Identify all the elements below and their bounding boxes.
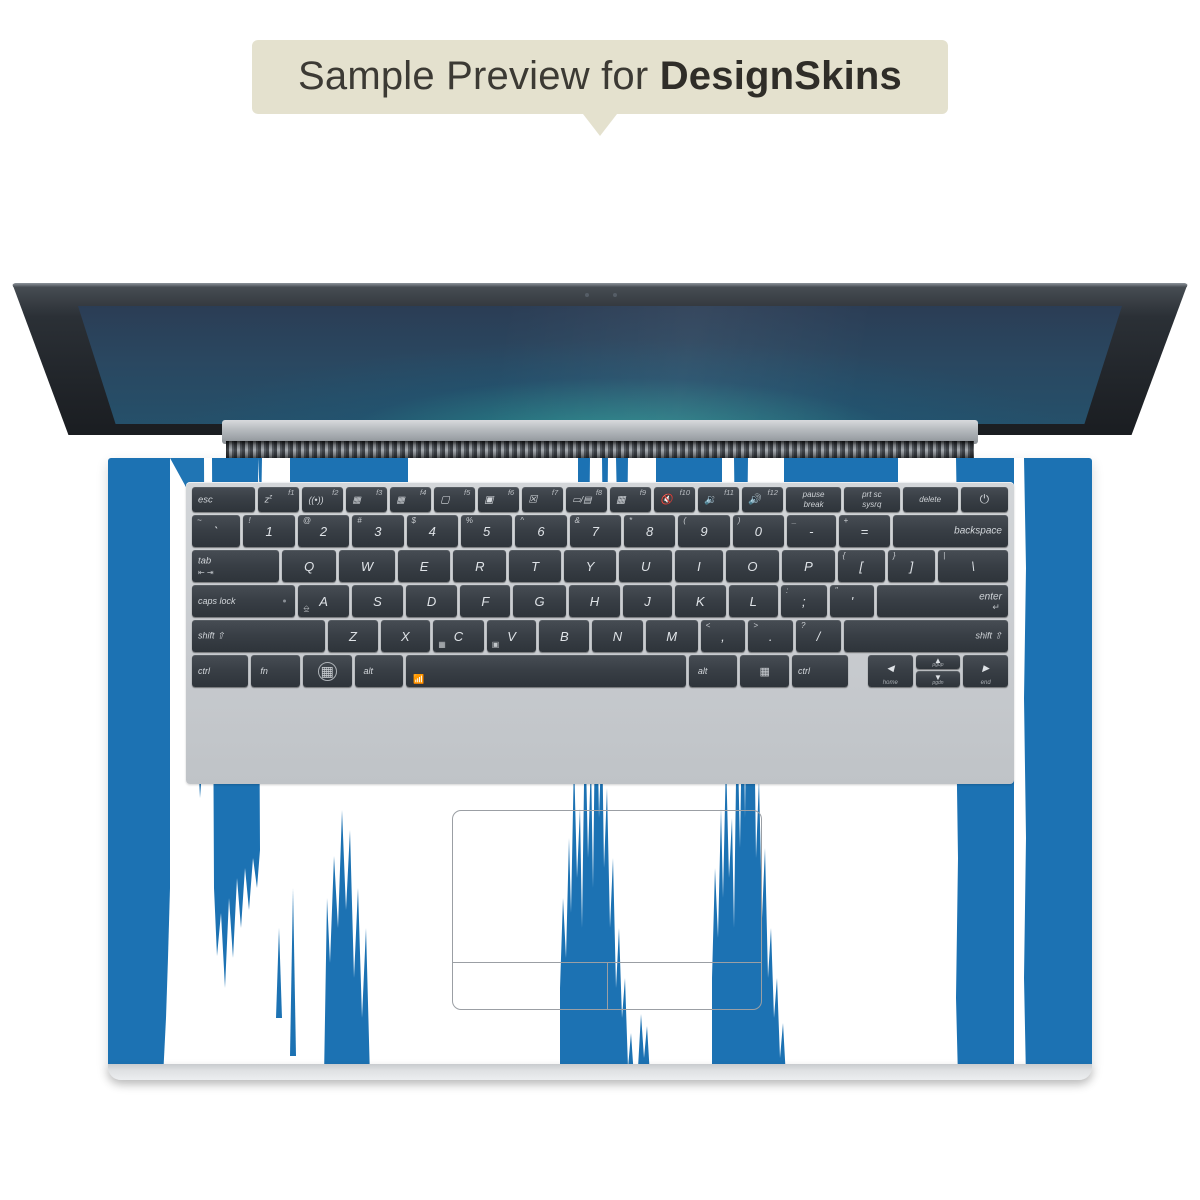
key-tab-label: tab: [198, 555, 211, 566]
key-5-label: 5: [483, 524, 490, 539]
screen-glare: [78, 306, 1122, 424]
brightness-up-icon: ▣: [484, 494, 493, 505]
key-f12-volume-up[interactable]: 🔊f12: [742, 487, 783, 512]
key-0-label: 0: [755, 524, 762, 539]
wireless-icon: ((•)): [308, 495, 323, 505]
laptop-product-image: esc zzf1 ((•))f2 ▦f3 ▦f4 ▢f5 ▣f6 ☒f7 ▭/▤…: [0, 278, 1200, 1108]
key-tab[interactable]: tab⇤ ⇥: [192, 550, 279, 582]
laptop-lid: [0, 278, 1200, 438]
key-t[interactable]: T: [509, 550, 561, 582]
key-u[interactable]: U: [619, 550, 672, 582]
key-backslash-label: \: [971, 559, 975, 574]
key-fn-label: fn: [260, 666, 268, 676]
key-f6-brightness-up[interactable]: ▣f6: [478, 487, 519, 512]
key-m-label: M: [666, 629, 677, 644]
enter-arrow-icon: ↵: [992, 602, 1000, 613]
key-g[interactable]: G: [513, 585, 565, 617]
volume-up-icon: 🔊: [748, 494, 760, 505]
key-delete-label: delete: [919, 495, 941, 505]
key-enter-label: enter: [979, 591, 1002, 602]
key-y-label: Y: [586, 559, 595, 574]
key-fn[interactable]: fn: [251, 655, 300, 687]
key-4-shift: $: [412, 516, 416, 525]
key-semicolon[interactable]: :;: [781, 585, 827, 617]
key-1[interactable]: !1: [243, 515, 294, 547]
key-f9-fnlabel: f9: [640, 488, 646, 497]
key-6[interactable]: ^6: [515, 515, 566, 547]
key-8[interactable]: *8: [624, 515, 675, 547]
key-print-screen[interactable]: prt scsysrq: [844, 487, 899, 512]
key-print-screen-label: prt scsysrq: [862, 490, 882, 510]
lid-top-highlight: [12, 283, 1188, 287]
key-quote-label: ': [851, 594, 853, 609]
key-ctrl-left-label: ctrl: [198, 666, 210, 676]
key-minus-shift: _: [792, 516, 796, 525]
key-a-label: A: [319, 594, 328, 609]
key-n-label: N: [613, 629, 622, 644]
key-f[interactable]: F: [460, 585, 510, 617]
key-equals-shift: +: [844, 516, 849, 525]
key-y[interactable]: Y: [564, 550, 616, 582]
key-i-label: I: [697, 559, 701, 574]
key-pause-break[interactable]: pausebreak: [786, 487, 841, 512]
touchpad-icon: ▦: [616, 494, 625, 505]
key-9[interactable]: (9: [678, 515, 729, 547]
key-bracket-left-shift: {: [843, 551, 846, 560]
pause-line: pause: [803, 490, 825, 499]
key-power[interactable]: ⏻: [961, 487, 1008, 512]
key-semicolon-shift: :: [786, 586, 788, 595]
key-ctrl-right[interactable]: ctrl: [792, 655, 848, 687]
calculator-icon: ▦: [438, 640, 446, 649]
key-arrow-up[interactable]: ▲pgup: [916, 655, 961, 669]
key-comma-shift: <: [706, 621, 711, 630]
key-bracket-right-label: ]: [910, 559, 914, 574]
key-q-label: Q: [304, 559, 314, 574]
key-7-shift: &: [575, 516, 580, 525]
key-6-shift: ^: [520, 516, 524, 525]
preview-canvas: Sample Preview for DesignSkins: [0, 0, 1200, 1200]
key-backslash[interactable]: |\: [938, 550, 1008, 582]
key-backslash-shift: |: [943, 551, 945, 560]
laptop-front-edge: [108, 1064, 1092, 1080]
key-shift-left-label: shift ⇧: [198, 631, 225, 642]
sysrq-line: sysrq: [862, 500, 881, 509]
laptop-base: esc zzf1 ((•))f2 ▦f3 ▦f4 ▢f5 ▣f6 ☒f7 ▭/▤…: [108, 458, 1092, 1078]
key-f-label: F: [481, 594, 489, 609]
key-s-label: S: [373, 594, 382, 609]
key-backtick-shift: ~: [197, 516, 202, 525]
key-3-shift: #: [357, 516, 361, 525]
key-f7-fnlabel: f7: [552, 488, 558, 497]
key-2-shift: @: [303, 516, 311, 525]
key-arrow-right-alt-label: end: [963, 680, 1008, 686]
key-7-label: 7: [592, 524, 599, 539]
key-arrow-left[interactable]: ◀home: [868, 655, 913, 687]
key-backtick[interactable]: ~`: [192, 515, 240, 547]
key-slash-shift: ?: [801, 621, 805, 630]
key-o[interactable]: O: [726, 550, 780, 582]
key-f5-fnlabel: f5: [464, 488, 470, 497]
key-c-label: C: [454, 629, 463, 644]
key-alt-right[interactable]: alt: [689, 655, 738, 687]
key-f8-fnlabel: f8: [596, 488, 602, 497]
keyboard-deck: esc zzf1 ((•))f2 ▦f3 ▦f4 ▢f5 ▣f6 ☒f7 ▭/▤…: [186, 482, 1014, 784]
key-b[interactable]: B: [539, 620, 589, 652]
key-f6-fnlabel: f6: [508, 488, 514, 497]
caps-lock-led: [283, 600, 286, 603]
key-f1-fnlabel: f1: [288, 488, 294, 497]
display-switch-icon: ▭/▤: [572, 494, 592, 505]
windows-icon: ▦: [318, 662, 337, 681]
banner-pointer: [583, 114, 617, 136]
key-caps-lock-label: caps lock: [198, 596, 236, 606]
key-arrow-left-alt-label: home: [868, 680, 913, 686]
key-d[interactable]: D: [406, 585, 458, 617]
key-f11-volume-down[interactable]: 🔉f11: [698, 487, 739, 512]
key-ctrl-right-label: ctrl: [798, 666, 810, 676]
key-enter[interactable]: enter↵: [877, 585, 1008, 617]
keyboard-row-function: esc zzf1 ((•))f2 ▦f3 ▦f4 ▢f5 ▣f6 ☒f7 ▭/▤…: [192, 487, 1008, 512]
keyboard-row-space: ctrl fn ▦ alt 📶 alt ▦ ctrl ◀home ▲pgup ▼…: [192, 655, 1008, 687]
volume-down-icon: 🔉: [704, 494, 716, 505]
key-caps-lock[interactable]: caps lock: [192, 585, 295, 617]
key-delete[interactable]: delete: [903, 487, 958, 512]
key-arrow-down-alt-label: pgdn: [916, 680, 961, 686]
key-a[interactable]: A⎒: [298, 585, 349, 617]
banner-text-plain: Sample Preview for: [298, 54, 660, 98]
key-f3-kbd-backlight-down[interactable]: ▦f3: [346, 487, 387, 512]
key-f2-fnlabel: f2: [332, 488, 338, 497]
key-0-shift: ): [738, 516, 741, 525]
key-f12-fnlabel: f12: [767, 488, 777, 497]
banner-text-bold: DesignSkins: [660, 54, 902, 98]
key-k-label: K: [696, 594, 705, 609]
key-4[interactable]: $4: [407, 515, 458, 547]
key-space[interactable]: 📶: [406, 655, 686, 687]
webcam-lens-icon: [613, 293, 617, 297]
key-bracket-left[interactable]: {[: [838, 550, 885, 582]
key-arrow-right[interactable]: ▶end: [963, 655, 1008, 687]
key-o-label: O: [747, 559, 757, 574]
key-f8-display-switch[interactable]: ▭/▤f8: [566, 487, 607, 512]
key-quote[interactable]: "': [830, 585, 875, 617]
arrow-right-icon: ▶: [982, 663, 989, 674]
key-minus-label: -: [809, 524, 813, 539]
key-f5-brightness-down[interactable]: ▢f5: [434, 487, 475, 512]
key-comma[interactable]: <,: [701, 620, 746, 652]
key-comma-label: ,: [721, 629, 725, 644]
key-8-shift: *: [629, 516, 632, 525]
context-menu-icon: ▦: [760, 665, 770, 678]
key-r-label: R: [475, 559, 484, 574]
key-c[interactable]: C▦: [433, 620, 483, 652]
key-alt-right-label: alt: [698, 666, 708, 676]
key-j[interactable]: J: [623, 585, 672, 617]
key-alt-left[interactable]: alt: [355, 655, 404, 687]
key-r[interactable]: R: [453, 550, 506, 582]
key-t-label: T: [531, 559, 539, 574]
key-x[interactable]: X: [381, 620, 431, 652]
key-p-label: P: [804, 559, 813, 574]
preview-banner: Sample Preview for DesignSkins: [0, 40, 1200, 136]
key-period-shift: >: [753, 621, 758, 630]
key-3[interactable]: #3: [352, 515, 403, 547]
key-period[interactable]: >.: [748, 620, 793, 652]
key-s[interactable]: S: [352, 585, 403, 617]
key-windows[interactable]: ▦: [303, 655, 352, 687]
keyboard-row-bottom: shift ⇧ Z X C▦ V▣ B N M <, >. ?/ shift ⇧: [192, 620, 1008, 652]
key-4-label: 4: [429, 524, 436, 539]
key-p[interactable]: P: [782, 550, 834, 582]
mute-icon: 🔇: [660, 494, 672, 505]
keyboard-backlight-down-icon: ▦: [352, 494, 361, 505]
key-z[interactable]: Z: [328, 620, 377, 652]
key-f3-fnlabel: f3: [376, 488, 382, 497]
key-v[interactable]: V▣: [487, 620, 537, 652]
power-icon: ⏻: [980, 492, 990, 507]
key-f11-fnlabel: f11: [724, 488, 734, 497]
key-period-label: .: [769, 629, 773, 644]
key-equals-label: =: [861, 524, 869, 539]
key-backspace[interactable]: backspace: [893, 515, 1008, 547]
key-3-label: 3: [374, 524, 381, 539]
key-slash[interactable]: ?/: [796, 620, 841, 652]
key-backspace-label: backspace: [954, 526, 1002, 537]
key-n[interactable]: N: [592, 620, 642, 652]
key-shift-left[interactable]: shift ⇧: [192, 620, 325, 652]
key-esc[interactable]: esc: [192, 487, 255, 512]
key-f1-sleep[interactable]: zzf1: [258, 487, 299, 512]
key-z-label: Z: [349, 629, 357, 644]
arrow-left-icon: ◀: [887, 663, 894, 674]
key-m[interactable]: M: [646, 620, 698, 652]
key-minus[interactable]: _-: [787, 515, 835, 547]
print-icon: ⎒: [303, 604, 309, 614]
key-bracket-right[interactable]: }]: [888, 550, 935, 582]
key-shift-right[interactable]: shift ⇧: [844, 620, 1008, 652]
key-k[interactable]: K: [675, 585, 726, 617]
key-f2-wireless[interactable]: ((•))f2: [302, 487, 343, 512]
key-w[interactable]: W: [339, 550, 395, 582]
key-semicolon-label: ;: [802, 594, 806, 609]
key-esc-label: esc: [198, 494, 213, 505]
key-slash-label: /: [817, 629, 821, 644]
key-w-label: W: [361, 559, 373, 574]
key-5-shift: %: [466, 516, 473, 525]
break-line: break: [804, 500, 824, 509]
key-alt-left-label: alt: [364, 666, 374, 676]
prtsc-line: prt sc: [862, 490, 882, 499]
key-7[interactable]: &7: [570, 515, 621, 547]
key-0[interactable]: )0: [733, 515, 784, 547]
key-b-label: B: [560, 629, 569, 644]
key-h-label: H: [590, 594, 599, 609]
key-f4-kbd-backlight-up[interactable]: ▦f4: [390, 487, 431, 512]
key-backtick-label: `: [214, 524, 218, 539]
key-menu[interactable]: ▦: [740, 655, 789, 687]
keyboard-row-top: tab⇤ ⇥ Q W E R T Y U I O P {[ }] |\: [192, 550, 1008, 582]
key-h[interactable]: H: [569, 585, 621, 617]
key-u-label: U: [641, 559, 650, 574]
brightness-down-icon: ▢: [440, 494, 449, 505]
key-e[interactable]: E: [398, 550, 450, 582]
key-f7-display-off[interactable]: ☒f7: [522, 487, 563, 512]
key-9-shift: (: [683, 516, 686, 525]
key-9-label: 9: [700, 524, 707, 539]
key-1-label: 1: [266, 524, 273, 539]
key-5[interactable]: %5: [461, 515, 512, 547]
key-l-label: L: [750, 594, 757, 609]
key-v-label: V: [507, 629, 516, 644]
key-pause-break-label: pausebreak: [803, 490, 825, 510]
key-quote-shift: ": [835, 586, 838, 595]
key-shift-right-label: shift ⇧: [975, 631, 1002, 642]
key-equals[interactable]: +=: [839, 515, 891, 547]
key-bracket-left-label: [: [859, 559, 863, 574]
key-arrow-down[interactable]: ▼pgdn: [916, 671, 961, 687]
key-f1-glyph: zz: [264, 494, 272, 505]
key-f10-mute[interactable]: 🔇f10: [654, 487, 695, 512]
key-f10-fnlabel: f10: [680, 488, 690, 497]
key-g-label: G: [534, 594, 544, 609]
keyboard-backlight-up-icon: ▦: [396, 494, 405, 505]
key-f9-touchpad-toggle[interactable]: ▦f9: [610, 487, 651, 512]
key-l[interactable]: L: [729, 585, 778, 617]
key-x-label: X: [401, 629, 410, 644]
webcam-indicator-icon: [585, 293, 589, 297]
key-j-label: J: [644, 594, 651, 609]
key-2[interactable]: @2: [298, 515, 349, 547]
key-e-label: E: [420, 559, 429, 574]
key-bracket-right-shift: }: [893, 551, 896, 560]
key-2-label: 2: [320, 524, 327, 539]
banner-text: Sample Preview for DesignSkins: [252, 40, 948, 114]
key-ctrl-left[interactable]: ctrl: [192, 655, 248, 687]
key-i[interactable]: I: [675, 550, 722, 582]
key-8-label: 8: [646, 524, 653, 539]
key-q[interactable]: Q: [282, 550, 336, 582]
key-f4-fnlabel: f4: [420, 488, 426, 497]
key-d-label: D: [427, 594, 436, 609]
key-arrow-up-alt-label: pgup: [916, 662, 961, 668]
camera-icon: ▣: [492, 640, 500, 649]
keyboard-row-home: caps lock A⎒ S D F G H J K L :; "' enter…: [192, 585, 1008, 617]
laptop-screen: [78, 306, 1122, 424]
bluetooth-icon: 📶: [413, 674, 424, 685]
key-1-shift: !: [248, 516, 250, 525]
keyboard-row-number: ~` !1 @2 #3 $4 %5 ^6 &7 *8 (9 )0 _- += b…: [192, 515, 1008, 547]
display-off-icon: ☒: [528, 494, 537, 505]
key-6-label: 6: [537, 524, 544, 539]
